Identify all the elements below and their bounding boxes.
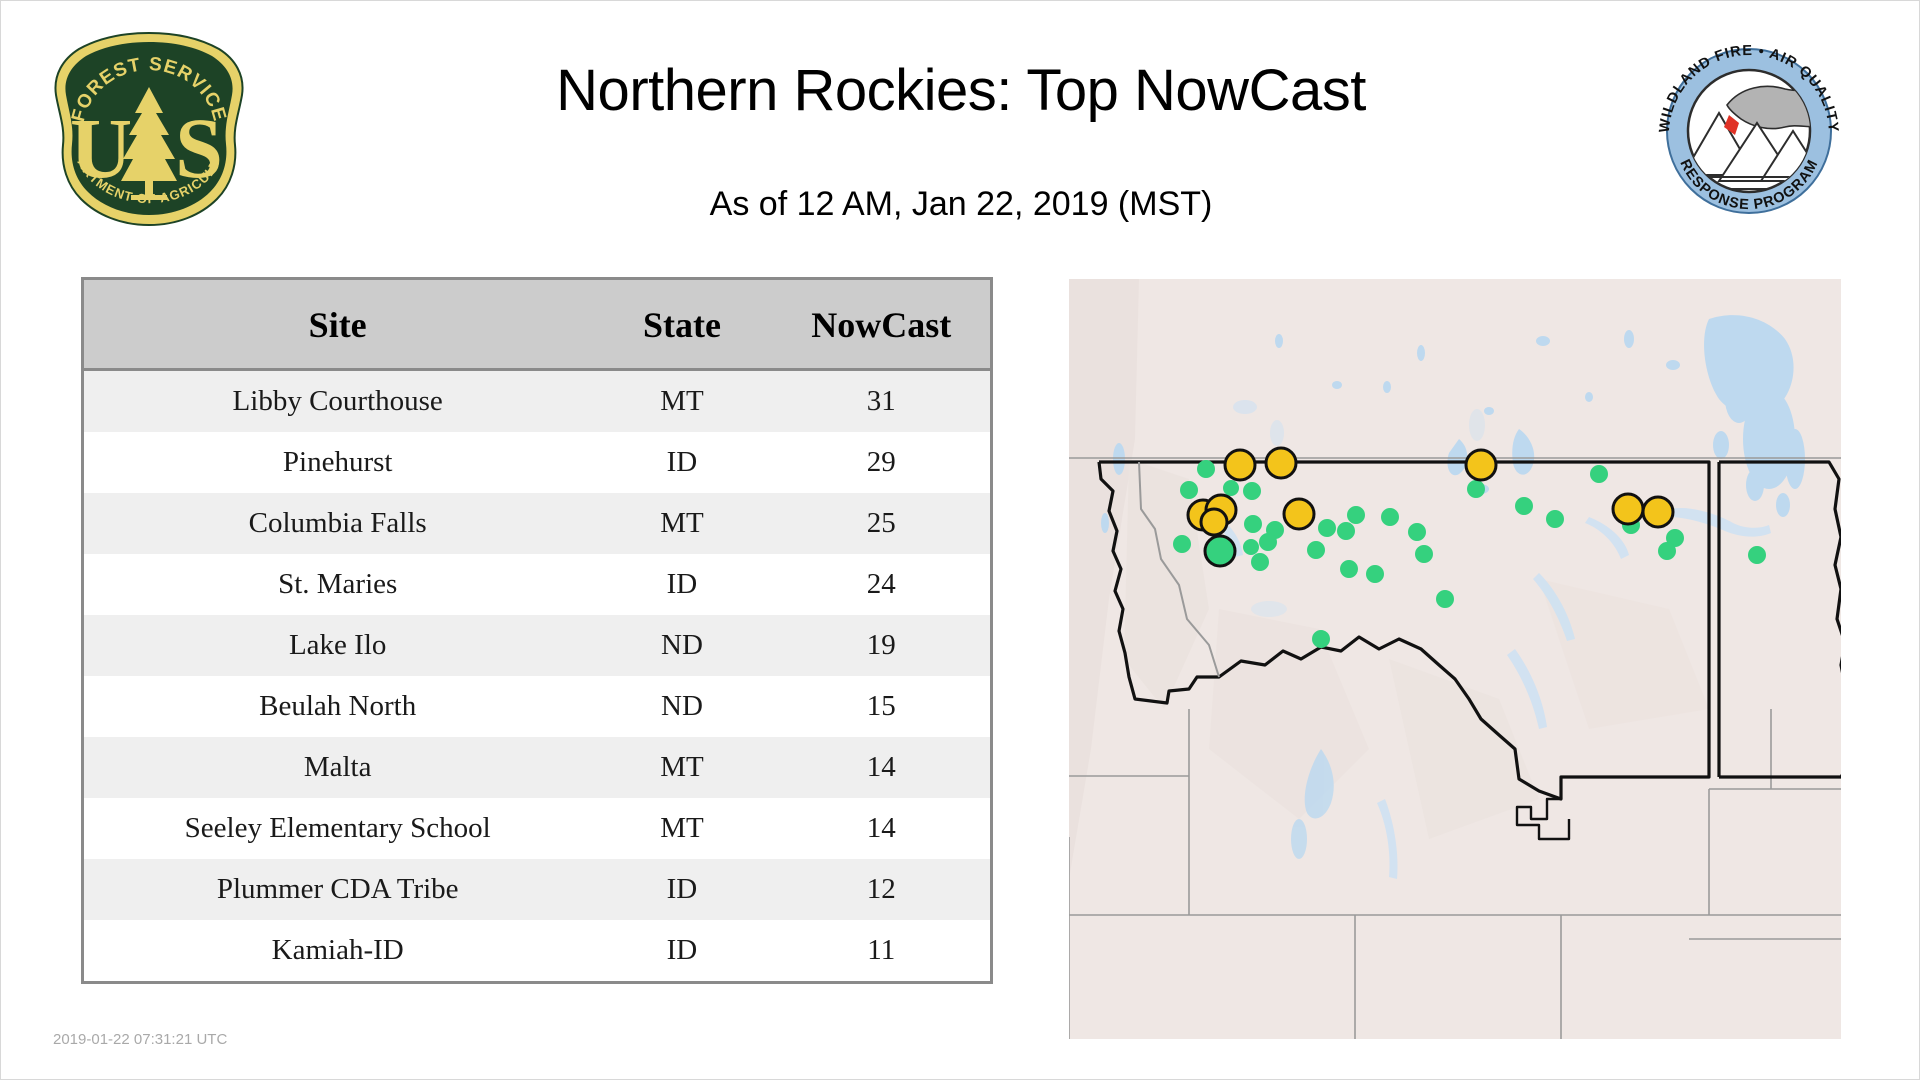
cell-nowcast: 15 [773, 676, 990, 737]
cell-nowcast: 24 [773, 554, 990, 615]
map-marker-green [1319, 520, 1336, 537]
map-marker-green-large [1205, 536, 1235, 566]
page-title: Northern Rockies: Top NowCast [301, 57, 1621, 124]
map-marker-yellow [1266, 448, 1296, 478]
cell-state: MT [591, 798, 772, 859]
cell-site: Pinehurst [84, 432, 591, 493]
fs-logo-letter-s: S [175, 100, 223, 196]
cell-state: ID [591, 859, 772, 920]
map-marker-yellow [1613, 494, 1643, 524]
map-marker-green [1174, 536, 1191, 553]
cell-site: Malta [84, 737, 591, 798]
cell-nowcast: 19 [773, 615, 990, 676]
cell-site: Plummer CDA Tribe [84, 859, 591, 920]
cell-site: Beulah North [84, 676, 591, 737]
map-marker-green [1181, 482, 1198, 499]
cell-state: ID [591, 554, 772, 615]
cell-nowcast: 25 [773, 493, 990, 554]
map-marker-yellow [1225, 450, 1255, 480]
map-marker-green [1367, 566, 1384, 583]
table-row: Kamiah-ID ID 11 [84, 920, 990, 981]
cell-site: St. Maries [84, 554, 591, 615]
cell-state: ID [591, 920, 772, 981]
map-marker-yellow [1466, 450, 1496, 480]
generation-timestamp: 2019-01-22 07:31:21 UTC [53, 1031, 227, 1048]
table-row: Malta MT 14 [84, 737, 990, 798]
map-marker-green [1341, 561, 1358, 578]
table-row: Lake Ilo ND 19 [84, 615, 990, 676]
cell-nowcast: 29 [773, 432, 990, 493]
cell-state: ND [591, 615, 772, 676]
cell-nowcast: 31 [773, 370, 990, 433]
map-marker-yellow [1284, 499, 1314, 529]
cell-state: MT [591, 737, 772, 798]
cell-nowcast: 14 [773, 737, 990, 798]
nowcast-table-container: Site State NowCast Libby Courthouse MT 3… [81, 277, 993, 984]
cell-site: Libby Courthouse [84, 370, 591, 433]
table-row: Libby Courthouse MT 31 [84, 370, 990, 433]
map-marker-green [1416, 546, 1433, 563]
map-marker-green [1313, 631, 1330, 648]
map-marker-green [1308, 542, 1325, 559]
map-marker-green [1224, 481, 1239, 496]
forest-service-logo: FOREST SERVICE DEPARTMENT OF AGRICULTURE… [49, 29, 249, 229]
cell-site: Columbia Falls [84, 493, 591, 554]
map-marker-green [1659, 543, 1676, 560]
cell-nowcast: 12 [773, 859, 990, 920]
map-marker-green [1437, 591, 1454, 608]
cell-state: MT [591, 493, 772, 554]
map-marker-green [1591, 466, 1608, 483]
map-marker-green [1409, 524, 1426, 541]
map-marker-green [1198, 461, 1215, 478]
table-row: St. Maries ID 24 [84, 554, 990, 615]
cell-state: ID [591, 432, 772, 493]
table-row: Seeley Elementary School MT 14 [84, 798, 990, 859]
cell-site: Seeley Elementary School [84, 798, 591, 859]
map-marker-green [1547, 511, 1564, 528]
map-marker-green [1252, 554, 1269, 571]
map-marker-green [1382, 509, 1399, 526]
column-header-site: Site [84, 280, 591, 370]
cell-state: ND [591, 676, 772, 737]
nowcast-table: Site State NowCast Libby Courthouse MT 3… [84, 280, 990, 981]
map-marker-green [1244, 540, 1259, 555]
map-marker-green [1749, 547, 1766, 564]
map-marker-yellow [1643, 497, 1673, 527]
map-marker-green [1338, 523, 1355, 540]
map-marker-green [1516, 498, 1533, 515]
table-row: Pinehurst ID 29 [84, 432, 990, 493]
cell-site: Lake Ilo [84, 615, 591, 676]
map-marker-green [1244, 483, 1261, 500]
map-marker-green [1348, 507, 1365, 524]
table-row: Columbia Falls MT 25 [84, 493, 990, 554]
cell-nowcast: 11 [773, 920, 990, 981]
map-marker-yellow [1201, 509, 1227, 535]
table-row: Plummer CDA Tribe ID 12 [84, 859, 990, 920]
table-header-row: Site State NowCast [84, 280, 990, 370]
map-marker-green [1245, 516, 1262, 533]
column-header-nowcast: NowCast [773, 280, 990, 370]
cell-state: MT [591, 370, 772, 433]
column-header-state: State [591, 280, 772, 370]
table-row: Beulah North ND 15 [84, 676, 990, 737]
map-marker-green [1468, 481, 1485, 498]
cell-site: Kamiah-ID [84, 920, 591, 981]
fs-logo-letter-u: U [70, 100, 132, 196]
page-subtitle: As of 12 AM, Jan 22, 2019 (MST) [301, 185, 1621, 224]
presentation-slide: FOREST SERVICE DEPARTMENT OF AGRICULTURE… [0, 0, 1920, 1080]
map-marker-green [1260, 534, 1277, 551]
monitor-site-map[interactable] [1069, 279, 1841, 1039]
wildland-fire-air-quality-logo: WILDLAND FIRE • AIR QUALITY RESPONSE PRO… [1649, 31, 1849, 231]
cell-nowcast: 14 [773, 798, 990, 859]
